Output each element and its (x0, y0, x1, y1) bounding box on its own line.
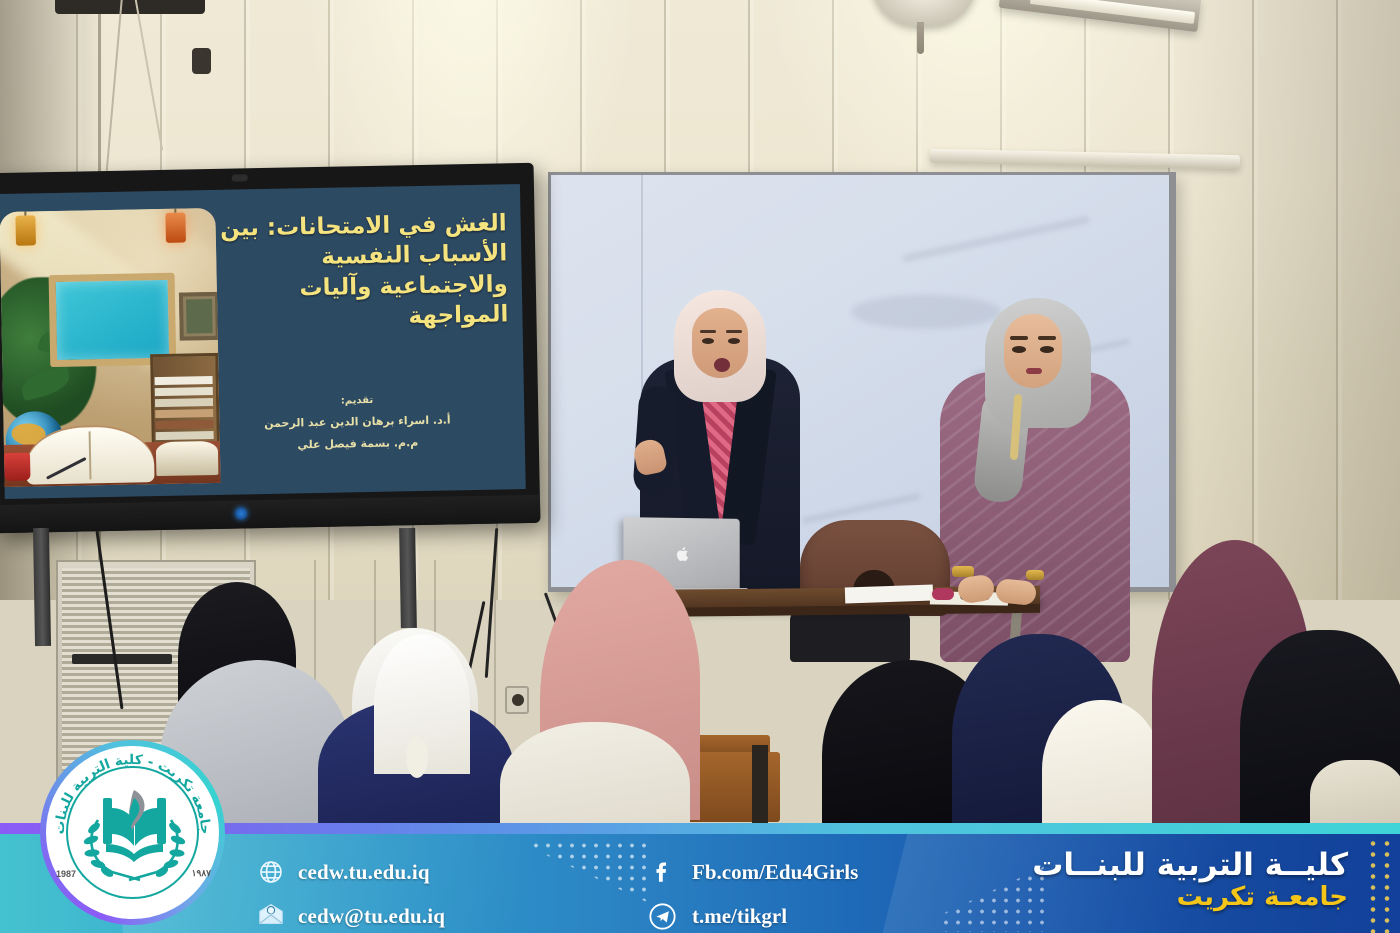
footer-gold-dot-column (1366, 838, 1394, 933)
telegram-row[interactable]: t.me/tikgrl (648, 894, 938, 933)
presenter-name-2: م.م. بسمة فيصل علي (233, 435, 483, 453)
bag-under-desk (790, 610, 910, 662)
presenter-left-eye-2 (728, 338, 740, 344)
slide-presenter-block: تقديم: أ.د. اسراء برهان الدين عبد الرحمن… (232, 393, 483, 453)
bench-leg (752, 745, 768, 835)
presenter-left-eye (702, 338, 714, 344)
artwork-book-icon (156, 441, 219, 476)
website-contact-row[interactable]: cedw.tu.edu.iq (258, 850, 508, 894)
display-camera-icon (232, 174, 248, 181)
telegram-icon (648, 902, 676, 930)
display-stand-left (33, 528, 51, 646)
email-contact-row[interactable]: @ cedw@tu.edu.iq (258, 894, 508, 933)
facebook-handle: Fb.com/Edu4Girls (692, 860, 858, 885)
smart-display[interactable]: الغش في الامتحانات: بين الأسباب النفسية … (0, 163, 540, 533)
apple-logo-icon (674, 544, 692, 564)
presenter-left-mouth (714, 358, 730, 372)
slide-title: الغش في الامتحانات: بين الأسباب النفسية … (206, 208, 508, 335)
globe-icon (258, 859, 284, 885)
presented-by-label: تقديم: (232, 393, 482, 409)
presenter-right-bangle (1026, 570, 1044, 580)
ceiling-vent (55, 0, 205, 14)
artwork-cup-icon (4, 453, 31, 481)
classroom-scene: الغش في الامتحانات: بين الأسباب النفسية … (0, 0, 1400, 845)
facebook-icon (648, 858, 676, 886)
telegram-handle: t.me/tikgrl (692, 904, 787, 929)
whiteboard-streak (902, 215, 1090, 262)
ceiling-dome-stem (917, 22, 924, 54)
footer-dot-pattern-right (940, 840, 1044, 932)
college-name: كليــة التربية للبنــات (1032, 848, 1348, 883)
brand-block: كليــة التربية للبنــات جامعـة تكريت (1032, 848, 1348, 913)
slide-artwork (0, 208, 221, 487)
logo-year-arabic: ١٩٨٧ (192, 868, 211, 879)
slide-title-line-4: المواجهة (208, 299, 509, 335)
logo-emblem-icon (68, 768, 201, 901)
wall-sensor-icon (192, 48, 211, 74)
wall-shadow-right (1170, 0, 1400, 600)
svg-text:@: @ (269, 908, 274, 914)
presenter-right-eye (1012, 346, 1026, 353)
university-name: جامعـة تكريت (1032, 883, 1348, 913)
presenter-right-eyebrow-2 (1038, 336, 1056, 340)
university-logo: جامعة تكريت - كلية التربية للبنات Tikrit… (40, 740, 225, 925)
envelope-icon: @ (258, 903, 284, 929)
presenter-left-eyebrow-2 (726, 330, 742, 333)
social-column: Fb.com/Edu4Girls t.me/tikgrl (648, 850, 938, 933)
screenshot-root: الغش في الامتحانات: بين الأسباب النفسية … (0, 0, 1400, 933)
email-address: cedw@tu.edu.iq (298, 904, 445, 929)
presentation-slide: الغش في الامتحانات: بين الأسباب النفسية … (0, 184, 526, 499)
footer-dot-pattern-left (530, 840, 648, 932)
logo-year-latin: 1987 (56, 869, 76, 879)
presenter-left-eyebrow (700, 330, 716, 333)
artwork-window (49, 273, 177, 367)
desk-item-pink (932, 588, 954, 600)
presenter-right-mouth (1026, 368, 1042, 374)
artwork-book-stack (155, 376, 213, 385)
presenter-right-eye-2 (1040, 346, 1054, 353)
wall-socket-icon (505, 686, 529, 714)
whiteboard-smudge (851, 295, 1001, 329)
facebook-row[interactable]: Fb.com/Edu4Girls (648, 850, 938, 894)
display-stand-right (399, 528, 417, 628)
contact-column: cedw.tu.edu.iq @ cedw@tu.edu.iq (258, 850, 508, 933)
ac-vent-slot (72, 654, 172, 664)
paper-on-desk (845, 584, 934, 603)
presenter-right-watch (952, 566, 974, 577)
hijab-knot (406, 736, 428, 778)
artwork-lantern-left-icon (15, 215, 36, 245)
artwork-lantern-right-icon (165, 212, 186, 242)
presenter-right-eyebrow (1010, 336, 1028, 340)
website-url: cedw.tu.edu.iq (298, 860, 430, 885)
logo-inner-circle (66, 766, 199, 899)
presenter-name-1: أ.د. اسراء برهان الدين عبد الرحمن (232, 413, 482, 431)
